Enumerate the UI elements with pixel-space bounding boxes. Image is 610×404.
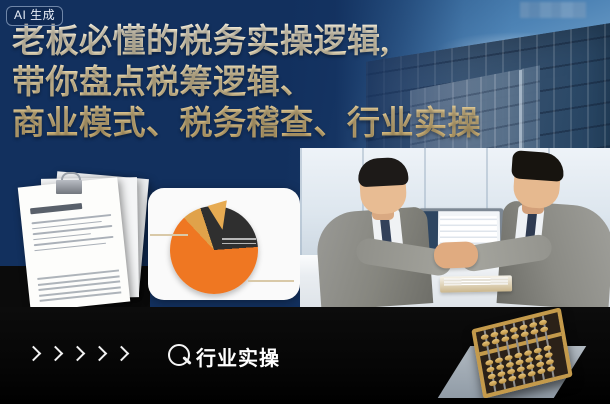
handshake [434, 241, 479, 269]
binder-clip-icon [54, 172, 84, 194]
headline-line-3: 商业模式、税务稽查、行业实操 [12, 104, 602, 145]
document-text-lines [31, 214, 114, 255]
handshake-business-photo [300, 148, 610, 307]
ai-generated-badge: AI 生成 [6, 6, 63, 26]
tax-documents [2, 170, 152, 310]
notebook [440, 275, 512, 292]
headline-line-2: 带你盘点税筹逻辑、 [12, 63, 602, 104]
magnifier-icon [168, 344, 194, 370]
pie-chart [170, 198, 266, 294]
footer-label: 行业实操 [196, 342, 280, 371]
pie-slices [170, 206, 258, 294]
document-sheet-front [18, 177, 131, 312]
poster-root: AI 生成 老板必懂的税务实操逻辑, 带你盘点税筹逻辑、 商业模式、税务稽查、行… [0, 0, 610, 404]
chevron-right-icon [114, 346, 130, 362]
pie-dark-label [222, 238, 256, 247]
document-heading [30, 203, 82, 214]
headline-line-1: 老板必懂的税务实操逻辑, [12, 22, 602, 63]
pie-leader-line-right [248, 280, 294, 282]
pie-chart-card [148, 188, 300, 300]
wooden-abacus [452, 312, 610, 404]
chevron-right-icon [48, 346, 64, 362]
chevron-right-icon [92, 346, 108, 362]
footer-search-label: 行业实操 [168, 342, 280, 371]
blurred-watermark [520, 2, 586, 18]
document-table [37, 269, 121, 305]
chevron-right-icon [70, 346, 86, 362]
page-title: 老板必懂的税务实操逻辑, 带你盘点税筹逻辑、 商业模式、税务稽查、行业实操 [12, 22, 602, 145]
chevron-group [28, 348, 127, 359]
chevron-right-icon [26, 346, 42, 362]
pie-leader-line-left [150, 234, 188, 236]
